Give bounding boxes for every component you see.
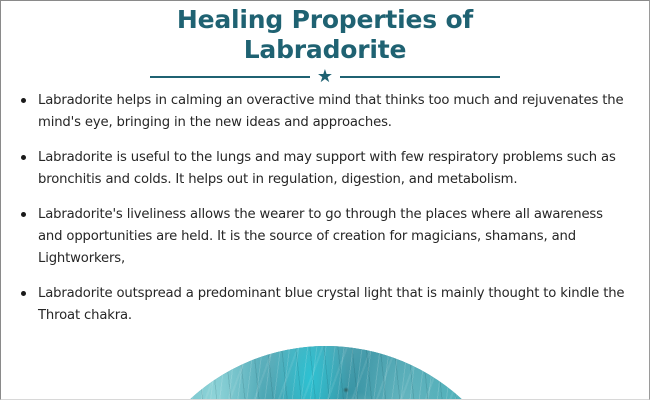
list-item: Labradorite is useful to the lungs and m… (1, 147, 649, 191)
bullet-text: Labradorite's liveliness allows the wear… (38, 204, 631, 270)
bullet-list: Labradorite helps in calming an overacti… (1, 90, 649, 340)
bullet-text: Labradorite outspread a predominant blue… (38, 283, 631, 327)
title-line-2: Labradorite (1, 35, 649, 65)
divider-rule-left (150, 76, 310, 78)
list-item: Labradorite helps in calming an overacti… (1, 90, 649, 134)
title-divider: ★ (1, 67, 649, 87)
list-item: Labradorite outspread a predominant blue… (1, 283, 649, 327)
list-item: Labradorite's liveliness allows the wear… (1, 204, 649, 270)
slide-canvas: Healing Properties of Labradorite ★ Labr… (0, 0, 650, 400)
stone-speck-overlay (126, 346, 526, 400)
title-line-1: Healing Properties of (1, 5, 649, 35)
star-icon: ★ (317, 67, 333, 85)
page-title: Healing Properties of Labradorite (1, 5, 649, 65)
bullet-text: Labradorite helps in calming an overacti… (38, 90, 631, 134)
labradorite-stone-photo (126, 346, 526, 400)
divider-rule-right (340, 76, 500, 78)
bullet-text: Labradorite is useful to the lungs and m… (38, 147, 631, 191)
